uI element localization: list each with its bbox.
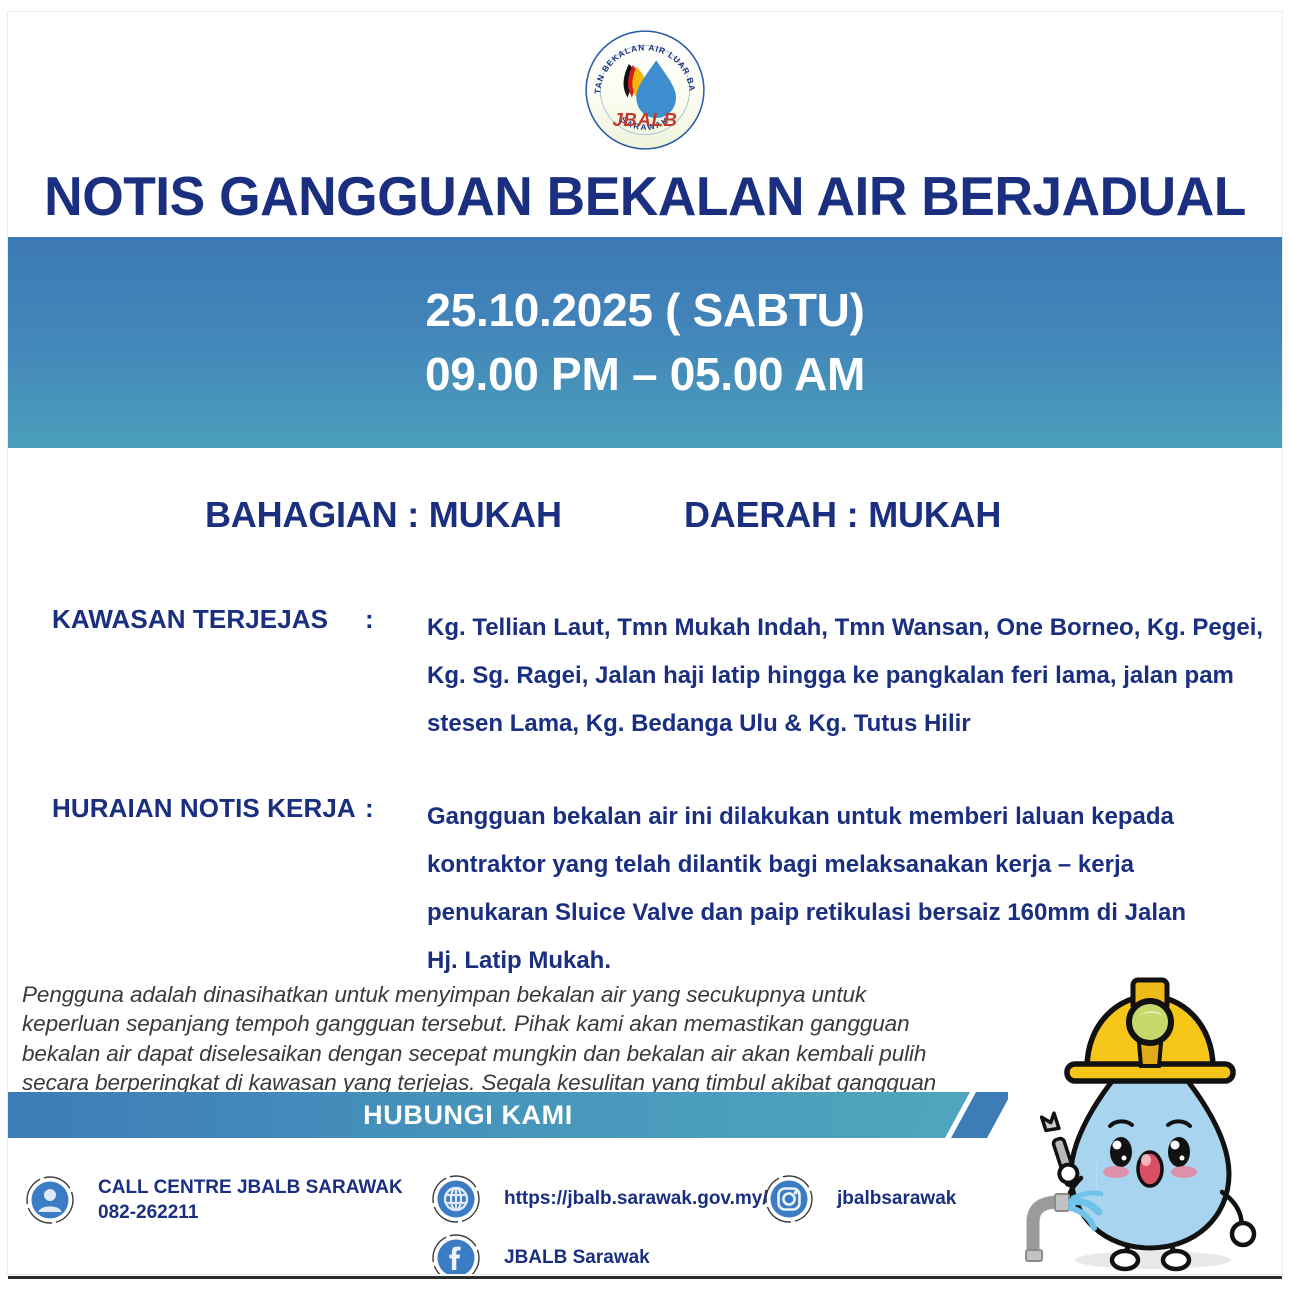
work-description-line: penukaran Sluice Valve dan paip retikula…	[427, 889, 1217, 937]
contact-facebook[interactable]: JBALB Sarawak	[432, 1234, 650, 1274]
schedule-time: 09.00 PM – 05.00 AM	[425, 343, 865, 406]
jbalb-logo-icon: JABATAN BEKALAN AIR LUAR BANDAR SARAWAK …	[583, 28, 707, 152]
region-row: BAHAGIAN : MUKAH DAERAH : MUKAH	[8, 494, 1282, 542]
affected-areas-label: KAWASAN TERJEJAS	[52, 604, 328, 635]
affected-areas-line: Kg. Sg. Ragei, Jalan haji latip hingga k…	[427, 652, 1217, 700]
instagram-icon	[765, 1175, 813, 1223]
person-icon	[26, 1176, 74, 1224]
globe-icon	[432, 1175, 480, 1223]
affected-areas-line: stesen Lama, Kg. Bedanga Ulu & Kg. Tutus…	[427, 700, 1217, 748]
affected-areas-line: Kg. Tellian Laut, Tmn Mukah Indah, Tmn W…	[427, 604, 1217, 652]
work-description-line: kontraktor yang telah dilantik bagi mela…	[427, 841, 1217, 889]
work-description-colon: :	[365, 793, 374, 824]
region-daerah: DAERAH : MUKAH	[684, 494, 1001, 536]
schedule-banner: 25.10.2025 ( SABTU) 09.00 PM – 05.00 AM	[8, 237, 1282, 448]
contact-call-centre-label: CALL CENTRE JBALB SARAWAK	[98, 1177, 403, 1198]
region-bahagian: BAHAGIAN : MUKAH	[205, 494, 562, 536]
page-title: NOTIS GANGGUAN BEKALAN AIR BERJADUAL	[27, 164, 1263, 228]
contact-instagram[interactable]: jbalbsarawak	[765, 1175, 956, 1223]
water-droplet-mascot-icon	[993, 960, 1282, 1274]
affected-areas-value: Kg. Tellian Laut, Tmn Mukah Indah, Tmn W…	[427, 604, 1217, 748]
contact-call-centre[interactable]: CALL CENTRE JBALB SARAWAK 082-262211	[26, 1175, 403, 1225]
contact-website[interactable]: https://jbalb.sarawak.gov.my/	[432, 1175, 768, 1223]
contact-website-label: https://jbalb.sarawak.gov.my/	[504, 1186, 768, 1211]
contact-facebook-label: JBALB Sarawak	[504, 1245, 650, 1270]
work-description-label: HURAIAN NOTIS KERJA	[52, 793, 356, 824]
contact-instagram-label: jbalbsarawak	[837, 1186, 956, 1211]
svg-text:JBALB: JBALB	[612, 109, 677, 130]
facebook-icon	[432, 1234, 480, 1274]
affected-areas-colon: :	[365, 604, 374, 635]
work-description-line: Gangguan bekalan air ini dilakukan untuk…	[427, 793, 1217, 841]
notice-poster: JABATAN BEKALAN AIR LUAR BANDAR SARAWAK …	[8, 12, 1282, 1274]
contact-call-centre-text: CALL CENTRE JBALB SARAWAK 082-262211	[98, 1175, 403, 1225]
contact-call-centre-number: 082-262211	[98, 1200, 403, 1225]
contact-banner	[8, 1092, 1008, 1138]
schedule-date: 25.10.2025 ( SABTU)	[425, 279, 864, 342]
bottom-divider	[8, 1276, 1282, 1279]
jbalb-logo: JABATAN BEKALAN AIR LUAR BANDAR SARAWAK …	[8, 28, 1282, 158]
work-description-value: Gangguan bekalan air ini dilakukan untuk…	[427, 793, 1217, 985]
